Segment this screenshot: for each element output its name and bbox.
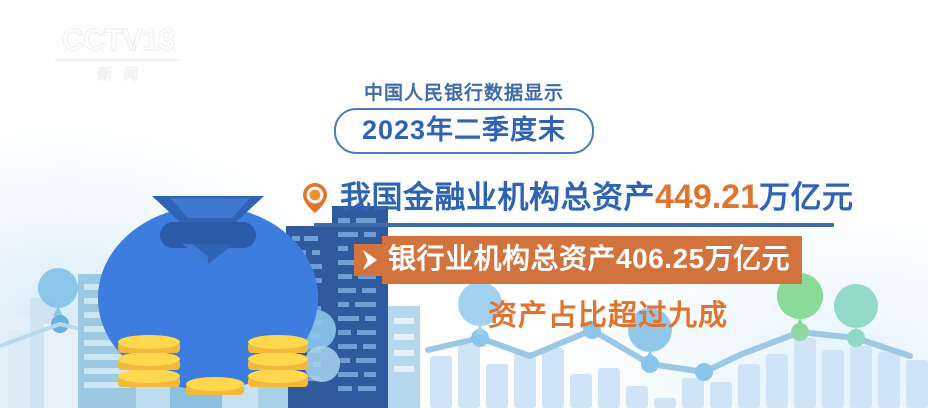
summary-text: 资产占比超过九成	[348, 292, 868, 334]
secondary-stat-text: 银行业机构总资产406.25万亿元	[382, 236, 802, 284]
primary-stat-underline	[314, 223, 834, 227]
infographic-canvas: CCTV13 新闻 中国人民银行数据显示 2023年二季度末 我国金融业机构总资…	[0, 0, 928, 408]
secondary-stat-row: 银行业机构总资产406.25万亿元	[354, 236, 862, 284]
statistics-block: 我国金融业机构总资产449.21万亿元 银行业机构总资产406.25万亿元 资产…	[302, 178, 862, 334]
primary-stat-value: 449.21	[655, 178, 759, 217]
cctv-logo-rule	[55, 59, 181, 61]
period-container: 2023年二季度末	[0, 108, 928, 154]
primary-stat-row: 我国金融业机构总资产449.21万亿元	[302, 178, 862, 217]
cctv-logo-mark: CCTV13	[48, 22, 188, 58]
primary-stat-unit: 万亿元	[759, 179, 854, 217]
primary-stat-label: 我国金融业机构总资产	[340, 179, 655, 217]
location-pin-icon	[302, 182, 328, 214]
source-line: 中国人民银行数据显示	[0, 78, 928, 105]
period-badge: 2023年二季度末	[334, 108, 594, 154]
